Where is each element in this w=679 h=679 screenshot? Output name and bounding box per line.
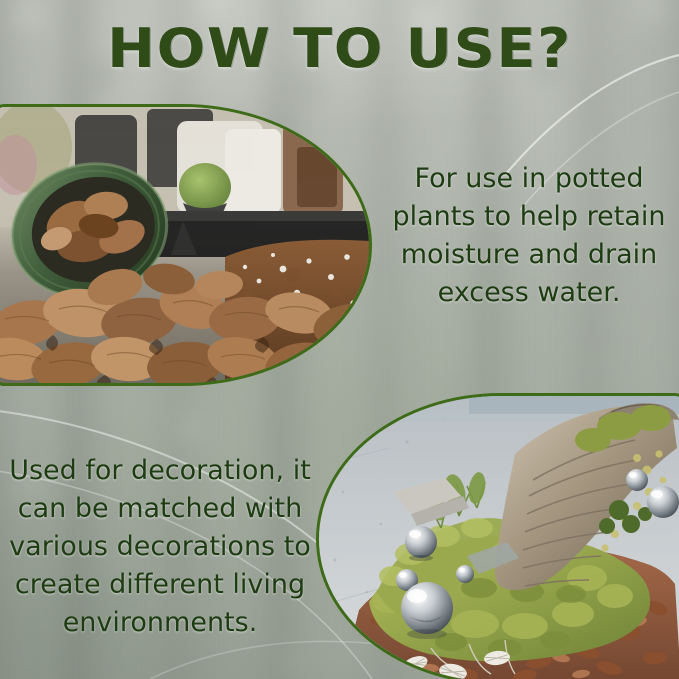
how-to-use-infographic: HOW TO USE?	[0, 0, 679, 679]
moss-landscape-decoration-photo	[316, 393, 679, 679]
decoration-description: Used for decoration, it can be matched w…	[5, 452, 315, 642]
mirror-sphere	[456, 565, 474, 583]
photo-content-bark	[0, 107, 369, 383]
moss-photo-illustration	[319, 396, 679, 679]
bark-photo-illustration	[0, 107, 369, 383]
photo-content-moss	[319, 396, 679, 679]
mirror-sphere	[647, 486, 679, 518]
page-title: HOW TO USE?	[0, 22, 679, 76]
bark-chips-spilling-from-green-pot-photo	[0, 104, 372, 386]
potted-plants-description: For use in potted plants to help retain …	[383, 160, 675, 312]
mirror-sphere	[626, 469, 648, 491]
